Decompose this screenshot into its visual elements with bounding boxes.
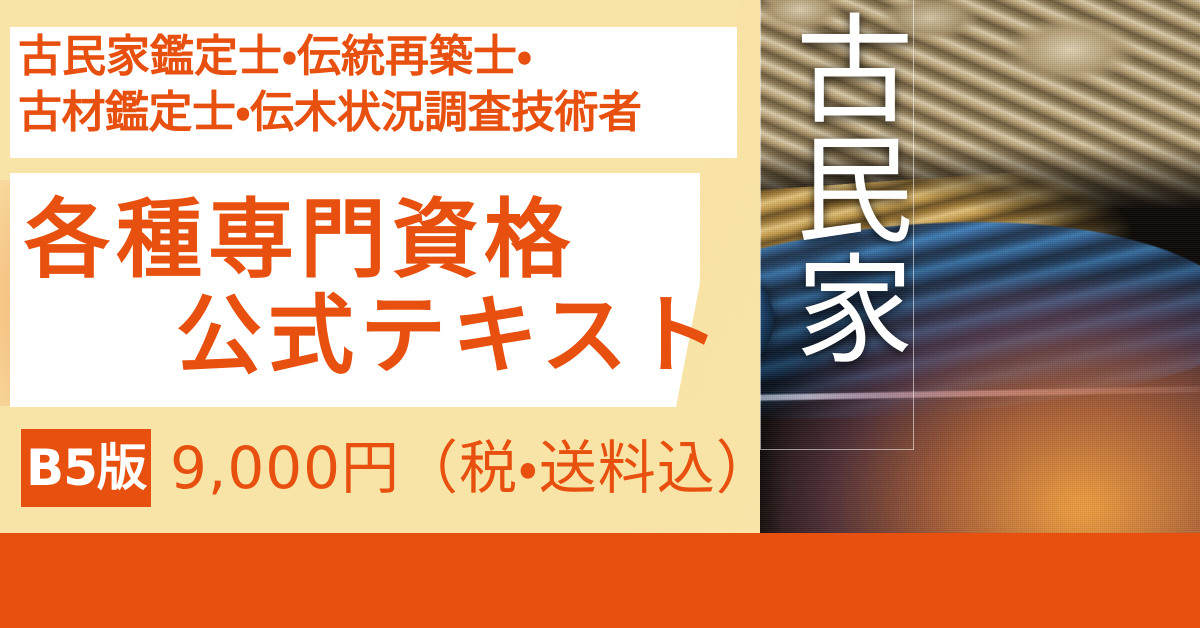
price-text: 9,000円（税・送料込） — [170, 430, 775, 506]
certifications-line-2: 古材鑑定士・伝木状況調査技術者 — [18, 85, 734, 141]
certifications-text: 古民家鑑定士・伝統再築士・ 古材鑑定士・伝木状況調査技術者 — [18, 29, 734, 141]
format-badge: B5版 — [21, 429, 151, 507]
certifications-line-1: 古民家鑑定士・伝統再築士・ — [18, 29, 734, 85]
promo-banner: 伝統構法、古民家活用のための調査と再生の 古民家 古民家鑑定士・伝統再築士・ 古… — [0, 0, 1200, 628]
headline-line-2: 公式テキスト — [176, 286, 725, 386]
cover-title: 古民家 — [778, 8, 910, 368]
cta-bar[interactable]: 詳細・ご購入はこちら — [0, 533, 1200, 628]
headline-line-1: 各種専門資格 — [24, 190, 576, 290]
